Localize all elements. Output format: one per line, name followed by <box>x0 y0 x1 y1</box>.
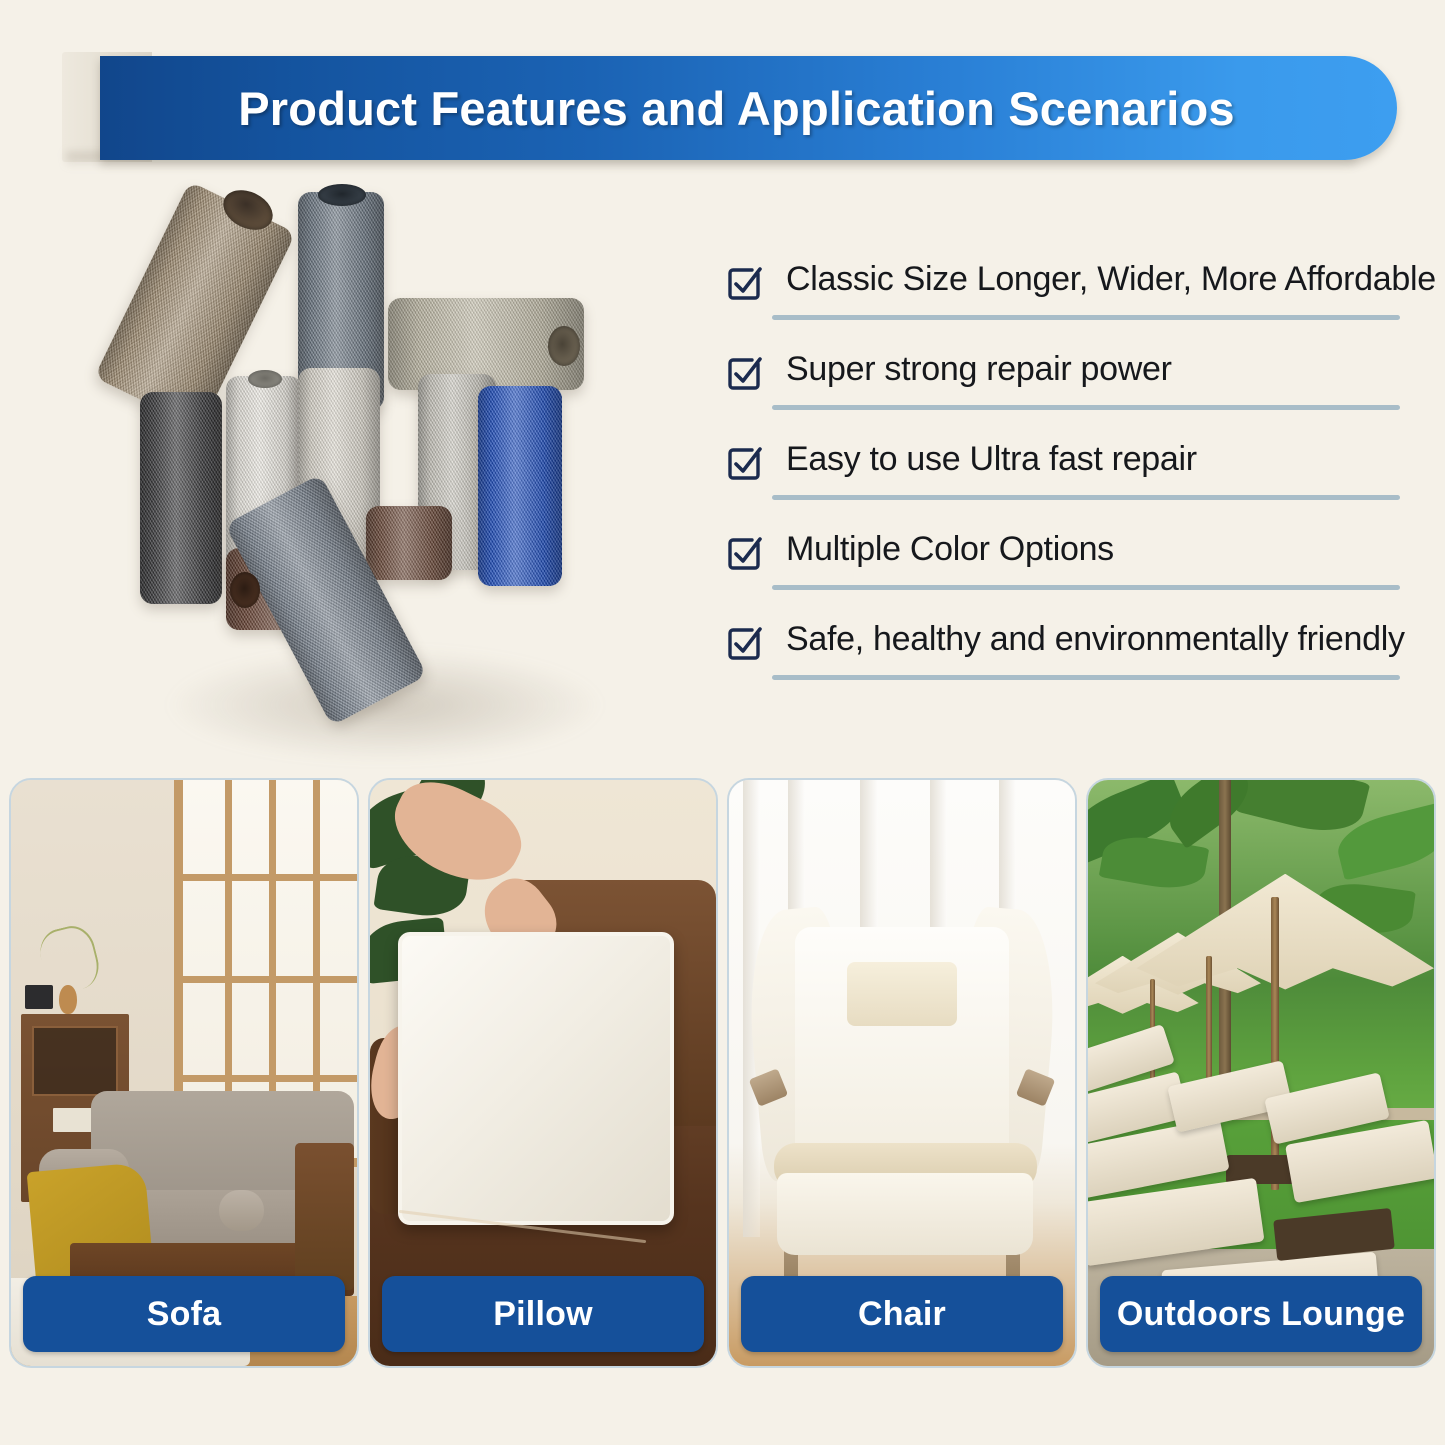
feature-item: Classic Size Longer, Wider, More Afforda… <box>716 252 1406 342</box>
checkbox-check-icon <box>722 352 766 396</box>
header-banner-zone: Product Features and Application Scenari… <box>0 0 1445 190</box>
checkbox-check-icon <box>722 622 766 666</box>
page-title: Product Features and Application Scenari… <box>238 81 1258 136</box>
scenario-label-pillow: Pillow <box>382 1276 704 1352</box>
application-scenario-gallery: Sofa Pillow <box>0 778 1445 1368</box>
feature-underline <box>772 585 1400 590</box>
tape-roll-core-brown <box>230 572 260 608</box>
tape-roll-core-white <box>248 370 282 388</box>
checkbox-check-icon <box>722 262 766 306</box>
feature-item: Multiple Color Options <box>716 522 1406 612</box>
product-image-tape-rolls <box>130 180 650 740</box>
tape-roll-arrangement <box>130 180 650 740</box>
checkbox-check-icon <box>722 442 766 486</box>
scenario-label-text: Chair <box>858 1295 946 1334</box>
feature-underline <box>772 315 1400 320</box>
checkbox-check-icon <box>722 532 766 576</box>
feature-label: Multiple Color Options <box>786 530 1114 569</box>
scenario-label-text: Outdoors Lounge <box>1117 1295 1405 1334</box>
scenario-label-text: Sofa <box>147 1295 221 1334</box>
scenario-card-sofa[interactable]: Sofa <box>9 778 359 1368</box>
feature-label: Classic Size Longer, Wider, More Afforda… <box>786 260 1436 299</box>
feature-label: Easy to use Ultra fast repair <box>786 440 1197 479</box>
feature-list: Classic Size Longer, Wider, More Afforda… <box>716 252 1406 702</box>
scenario-card-outdoors-lounge[interactable]: Outdoors Lounge <box>1086 778 1436 1368</box>
feature-underline <box>772 675 1400 680</box>
scenario-label-sofa: Sofa <box>23 1276 345 1352</box>
feature-underline <box>772 495 1400 500</box>
scenario-label-chair: Chair <box>741 1276 1063 1352</box>
feature-item: Easy to use Ultra fast repair <box>716 432 1406 522</box>
header-banner: Product Features and Application Scenari… <box>100 56 1397 160</box>
scenario-card-pillow[interactable]: Pillow <box>368 778 718 1368</box>
feature-item: Super strong repair power <box>716 342 1406 432</box>
tape-roll-royal-blue <box>478 386 562 586</box>
tape-roll-brown-back <box>366 506 452 580</box>
feature-label: Super strong repair power <box>786 350 1172 389</box>
feature-item: Safe, healthy and environmentally friend… <box>716 612 1406 702</box>
tape-roll-core-blue-gray <box>318 184 366 206</box>
tape-roll-charcoal <box>140 392 222 604</box>
scenario-label-outdoors-lounge: Outdoors Lounge <box>1100 1276 1422 1352</box>
feature-label: Safe, healthy and environmentally friend… <box>786 620 1405 659</box>
tape-roll-core-cream <box>548 326 580 366</box>
feature-underline <box>772 405 1400 410</box>
scenario-card-chair[interactable]: Chair <box>727 778 1077 1368</box>
scenario-label-text: Pillow <box>493 1295 592 1334</box>
